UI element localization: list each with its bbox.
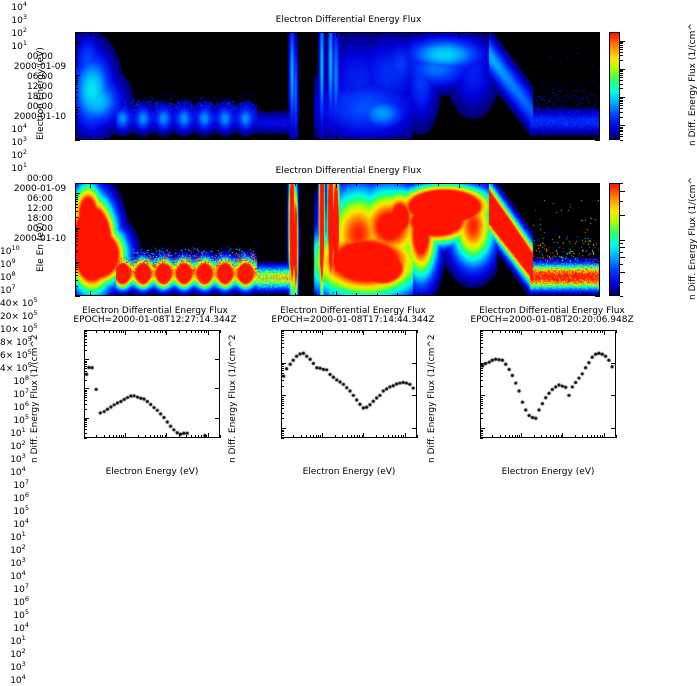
spectrogram-1-xtick-label: 06:00	[0, 194, 80, 204]
spectrum-2-xlabel: Electron Energy (eV)	[281, 467, 417, 477]
spectrum-3-ylabel: n Diff. Energy Flux (1/(cm^2	[427, 334, 437, 463]
spectrum-2-xtick-label: 104	[0, 569, 36, 582]
spectrum-2-xtick	[322, 433, 323, 438]
spectrogram-bottom-title: Electron Differential Energy Flux	[0, 166, 697, 176]
spectrum-1-ytick-label: 108	[0, 374, 29, 387]
spectrum-2-xtick-label: 102	[0, 543, 36, 556]
spectrum-2-subtitle: EPOCH=2000-01-08T17:14:44.344Z	[247, 315, 459, 325]
spectrogram-top-ylabel: Electron Energy (eV)	[36, 47, 46, 140]
spectrum-3-xtick	[604, 433, 605, 438]
spectrum-3-xtick-label: 101	[0, 634, 36, 647]
spectrogram-0-ytick-label: 101	[0, 39, 27, 52]
spectrum-1-xtick	[166, 433, 167, 438]
spectrum-1-plot[interactable]	[84, 330, 220, 438]
spectrogram-top-colorbar-label: n Diff. Energy Flux (1/(cm^	[688, 23, 697, 146]
spectrum-2-xtick	[363, 433, 364, 438]
spectrum-3-xtick-label: 104	[0, 673, 36, 686]
spectrum-3-subtitle: EPOCH=2000-01-08T20:20:06.948Z	[446, 315, 658, 325]
spectrogram-top-colorbar	[609, 32, 620, 140]
spectrogram-0-ytick-label: 102	[0, 26, 27, 39]
spectrogram-1-ytick-label: 102	[0, 148, 27, 161]
spectrogram-bottom-plot[interactable]	[75, 183, 600, 296]
spectrum-3-xtick-label: 102	[0, 647, 36, 660]
spectrum-3-xlabel: Electron Energy (eV)	[480, 467, 616, 477]
spectrum-1-subtitle: EPOCH=2000-01-08T12:27:14.344Z	[49, 315, 261, 325]
spectrogram-0-ytick-right	[595, 75, 600, 76]
spectrogram-1-ytick	[75, 296, 80, 297]
spectrogram-0-ytick	[75, 140, 80, 141]
spectrum-2-xtick	[405, 433, 406, 438]
spectrum-2-ylabel: n Diff. Energy Flux (1/(cm^2	[228, 334, 238, 463]
spectrum-1-xtick	[208, 433, 209, 438]
spectrogram-1-ytick-right	[595, 228, 600, 229]
spectrum-2-ytick-label: 105	[0, 504, 29, 517]
spectrum-1-ylabel: n Diff. Energy Flux (1/(cm^2	[30, 334, 40, 463]
spectrum-3-ytick-label: 106	[0, 595, 29, 608]
spectrogram-0-ytick-right	[595, 42, 600, 43]
spectrum-3-xtick	[480, 433, 481, 438]
spectrum-3-plot[interactable]	[480, 330, 616, 438]
spectrogram-1-ytick-right	[595, 296, 600, 297]
spectrogram-top-title: Electron Differential Energy Flux	[0, 15, 697, 25]
spectrum-3-xtick	[562, 433, 563, 438]
spectrogram-0-xtick	[582, 135, 583, 140]
spectrum-1-ytick-label: 106	[0, 400, 29, 413]
spectrogram-0-ytick-right	[595, 140, 600, 141]
spectrum-1-xtick	[84, 433, 85, 438]
spectrogram-1-ytick-label: 104	[0, 122, 27, 135]
spectrum-3-ytick-label: 105	[0, 608, 29, 621]
spectrum-2-ytick-label: 104	[0, 517, 29, 530]
cb-bottom-tick	[620, 240, 625, 241]
spectrogram-bottom-colorbar-label: n Diff. Energy Flux (1/(cm^	[688, 177, 697, 300]
spectrum-3-xtick-label: 103	[0, 660, 36, 673]
spectrum-3-ytick-label: 104	[0, 621, 29, 634]
spectrogram-top-plot[interactable]	[75, 32, 600, 140]
spectrogram-1-xtick	[582, 291, 583, 296]
spectrogram-bottom-colorbar	[609, 183, 620, 296]
spectrogram-bottom-ylabel: Ele En (eV)	[36, 222, 46, 272]
spectrum-1-xlabel: Electron Energy (eV)	[84, 467, 220, 477]
spectrum-1-ytick-label: 105	[0, 413, 29, 426]
spectrogram-0-ytick-right	[595, 107, 600, 108]
spectrum-1-xtick-label: 104	[0, 465, 36, 478]
spectrum-3-xtick	[521, 433, 522, 438]
spectrum-2-xtick-label: 101	[0, 530, 36, 543]
spectrum-2-ytick-label: 106	[0, 491, 29, 504]
spectrogram-1-ytick-label: 103	[0, 135, 27, 148]
spectrogram-1-ytick-right	[595, 262, 600, 263]
spectrum-2-plot[interactable]	[281, 330, 417, 438]
spectrum-3-ytick-label: 107	[0, 582, 29, 595]
spectrum-1-ytick-label: 107	[0, 387, 29, 400]
spectrum-2-xtick-label: 103	[0, 556, 36, 569]
spectrum-2-ytick-label: 107	[0, 478, 29, 491]
spectrum-2-xtick	[281, 433, 282, 438]
spectrogram-1-xtick-label: 12:00	[0, 204, 80, 214]
spectrogram-1-xtick-date: 2000-01-09	[0, 184, 80, 194]
spectrum-1-xtick	[125, 433, 126, 438]
spectrogram-0-ytick-label: 104	[0, 0, 27, 13]
spectrogram-1-ytick-right	[595, 193, 600, 194]
